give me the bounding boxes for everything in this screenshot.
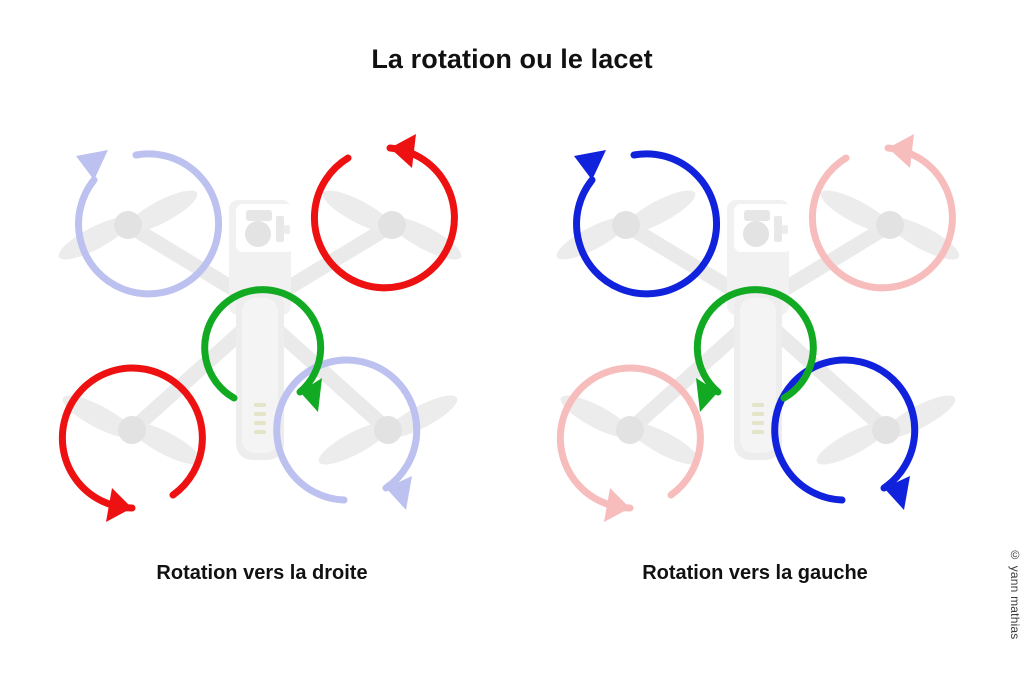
drone-illustration — [552, 176, 964, 479]
caption-rotation-gauche: Rotation vers la gauche — [545, 562, 965, 585]
panel-rotation-droite — [20, 130, 500, 540]
page-title: La rotation ou le lacet — [0, 44, 1024, 75]
rotor-arrow-top-right — [314, 134, 454, 288]
panel-rotation-gauche — [518, 130, 998, 540]
caption-rotation-droite: Rotation vers la droite — [52, 562, 472, 585]
diagram-canvas: La rotation ou le lacet — [0, 0, 1024, 680]
rotor-arrow-top-right — [812, 134, 952, 288]
drone-illustration — [54, 176, 466, 479]
copyright-notice: © yann mathias — [1004, 548, 1022, 678]
